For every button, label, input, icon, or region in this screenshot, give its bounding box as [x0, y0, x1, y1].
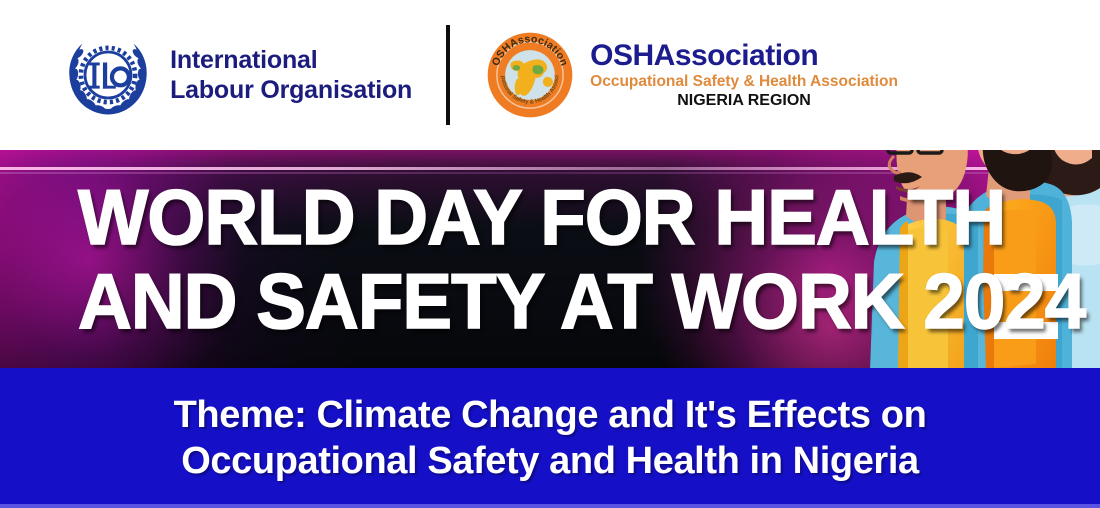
- osha-name-block: OSHAssociation Occupational Safety & Hea…: [590, 40, 898, 111]
- hero-background: [0, 150, 1100, 368]
- theme-line-1: Theme: Climate Change and It's Effects o…: [174, 392, 927, 438]
- osha-logo-block: OSHAssociation Occupational Safety & Hea…: [484, 29, 898, 121]
- logo-row: International Labour Organisation: [0, 0, 960, 150]
- light-streak-dim: [0, 172, 1100, 174]
- theme-banner: Theme: Climate Change and It's Effects o…: [0, 368, 1100, 508]
- header-logo-strip: International Labour Organisation: [0, 0, 1100, 150]
- osha-title: OSHAssociation: [590, 40, 898, 72]
- osha-region: NIGERIA REGION: [590, 93, 898, 110]
- ilo-laurel-gear-logo-icon: [62, 29, 154, 121]
- world-day-safety-banner: WORLD DAY FOR HEALTH AND SAFETY AT WORK …: [0, 0, 1100, 508]
- ilo-name-line-2: Labour Organisation: [170, 75, 412, 106]
- magenta-glow-left: [0, 150, 240, 368]
- pink-glow-bottom-right: [680, 218, 980, 368]
- osha-subtitle: Occupational Safety & Health Association: [590, 74, 898, 90]
- ilo-name-line-1: International: [170, 45, 412, 76]
- ilo-logo-block: International Labour Organisation: [62, 29, 412, 121]
- theme-line-2: Occupational Safety and Health in Nigeri…: [181, 438, 918, 484]
- vertical-divider-icon: [446, 25, 450, 125]
- ilo-name: International Labour Organisation: [170, 45, 412, 106]
- light-streak-bright: [0, 167, 1100, 170]
- osha-globe-badge-logo-icon: OSHAssociation Occupational Safety & Hea…: [484, 29, 576, 121]
